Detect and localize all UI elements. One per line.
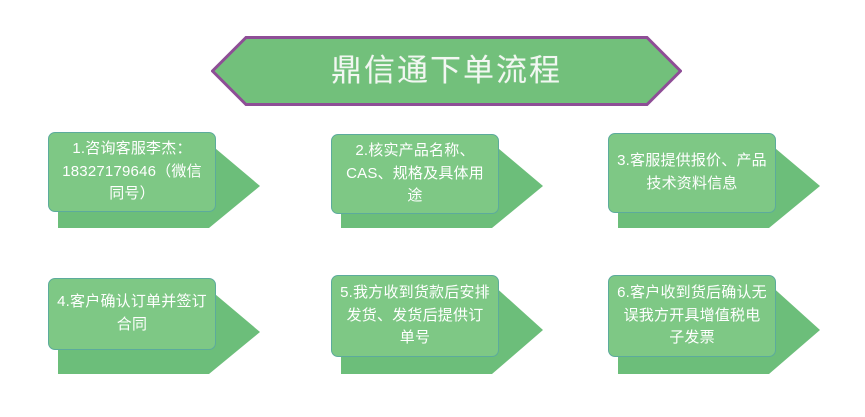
diagram-title-text: 鼎信通下单流程 [211, 36, 682, 106]
flow-step-5[interactable]: 5.我方收到货款后安排发货、发货后提供订单号 [329, 272, 544, 375]
step-label-6: 6.客户收到货后确认无误我方开具增值税电子发票 [608, 275, 776, 357]
flow-step-4[interactable]: 4.客户确认订单并签订合同 [46, 277, 261, 375]
step-label-5: 5.我方收到货款后安排发货、发货后提供订单号 [331, 275, 499, 357]
diagram-title-banner: 鼎信通下单流程 [211, 36, 682, 106]
step-label-1: 1.咨询客服李杰：18327179646（微信同号） [48, 132, 216, 212]
flow-step-6[interactable]: 6.客户收到货后确认无误我方开具增值税电子发票 [606, 272, 821, 375]
step-label-3: 3.客服提供报价、产品技术资料信息 [608, 133, 776, 213]
flowchart-canvas: 鼎信通下单流程 1.咨询客服李杰：18327179646（微信同号） 2.核实产… [0, 0, 865, 417]
flow-step-2[interactable]: 2.核实产品名称、CAS、规格及具体用途 [329, 131, 544, 229]
step-label-2: 2.核实产品名称、CAS、规格及具体用途 [331, 134, 499, 214]
flow-step-1[interactable]: 1.咨询客服李杰：18327179646（微信同号） [46, 131, 261, 229]
flow-step-3[interactable]: 3.客服提供报价、产品技术资料信息 [606, 131, 821, 229]
step-label-4: 4.客户确认订单并签订合同 [48, 278, 216, 350]
